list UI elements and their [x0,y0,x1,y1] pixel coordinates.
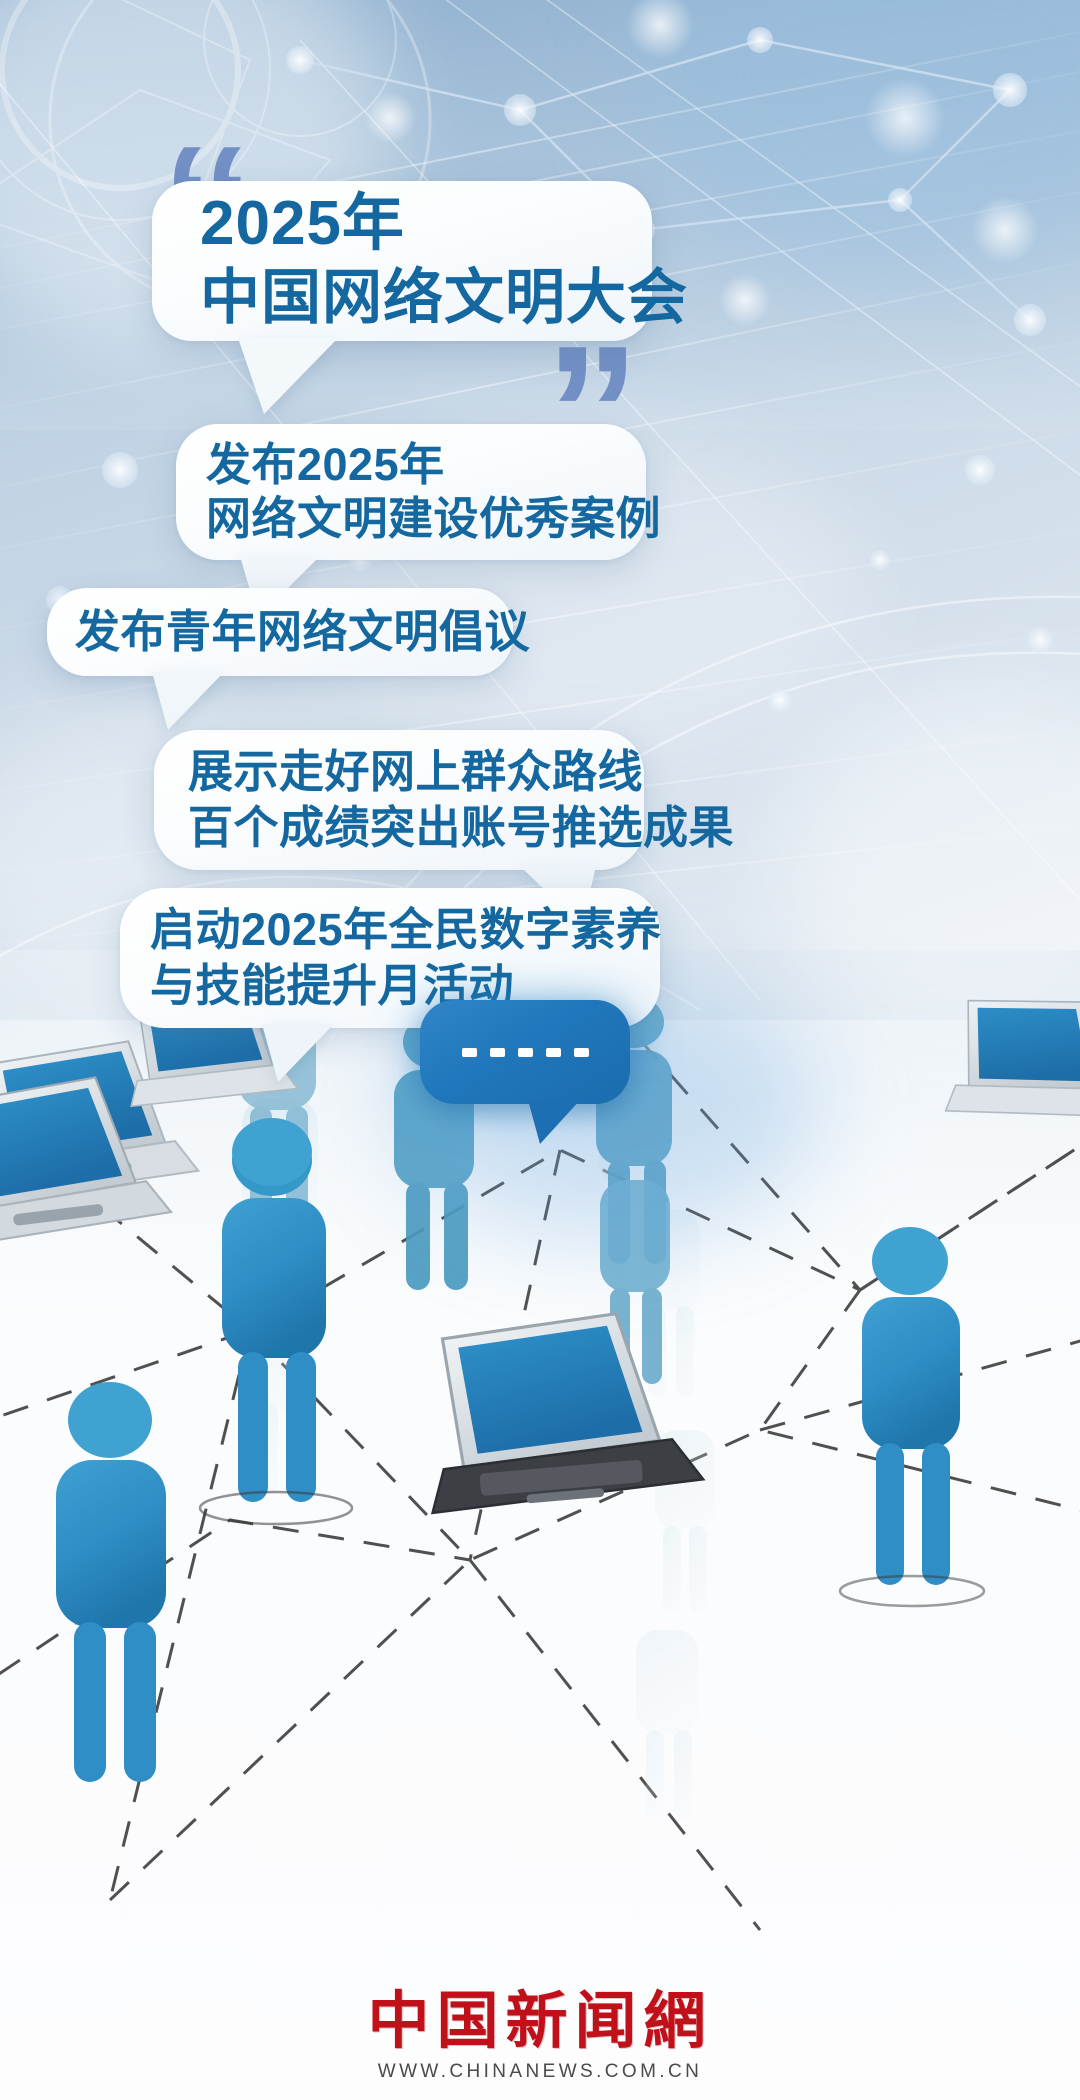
ellipsis-dot [574,1048,589,1057]
item-bubble-2-tail [152,672,224,730]
item-1-line-2: 网络文明建设优秀案例 [206,492,646,546]
site-logo: 中国新闻網 WWW.CHINANEWS.COM.CN [0,1986,1080,2083]
item-bubble-3: 展示走好网上群众路线 百个成绩突出账号推选成果 [154,730,644,870]
poster-root: “ ” 2025年 中国网络文明大会 发布2025年 网络文明建设优秀案例 发布… [0,0,1080,2100]
logo-brand-name: 中国新闻網 [0,1986,1080,2056]
item-1-line-1: 发布2025年 [206,438,646,492]
ellipsis-dot [490,1048,505,1057]
title-speech-bubble: 2025年 中国网络文明大会 [152,181,652,341]
background-white-floor [0,1020,1080,2100]
page-title-line2: 中国网络文明大会 [200,261,652,335]
item-4-line-1: 启动2025年全民数字素养 [150,902,660,958]
item-bubble-4-tail [262,1024,334,1082]
ellipsis-speech-bubble [420,1000,630,1104]
item-2-line-1: 发布青年网络文明倡议 [75,604,513,660]
ellipsis-dot [462,1048,477,1057]
logo-url: WWW.CHINANEWS.COM.CN [0,2061,1080,2083]
ellipsis-bubble-tail [528,1100,580,1144]
title-bubble-tail [238,338,338,414]
ellipsis-dot [518,1048,533,1057]
ellipsis-dots [462,1048,589,1057]
ellipsis-dot [546,1048,561,1057]
item-bubble-2: 发布青年网络文明倡议 [47,588,513,676]
item-3-line-1: 展示走好网上群众路线 [188,744,644,800]
item-3-line-2: 百个成绩突出账号推选成果 [188,800,644,856]
page-title-line1: 2025年 [200,187,652,261]
item-bubble-1: 发布2025年 网络文明建设优秀案例 [176,424,646,560]
